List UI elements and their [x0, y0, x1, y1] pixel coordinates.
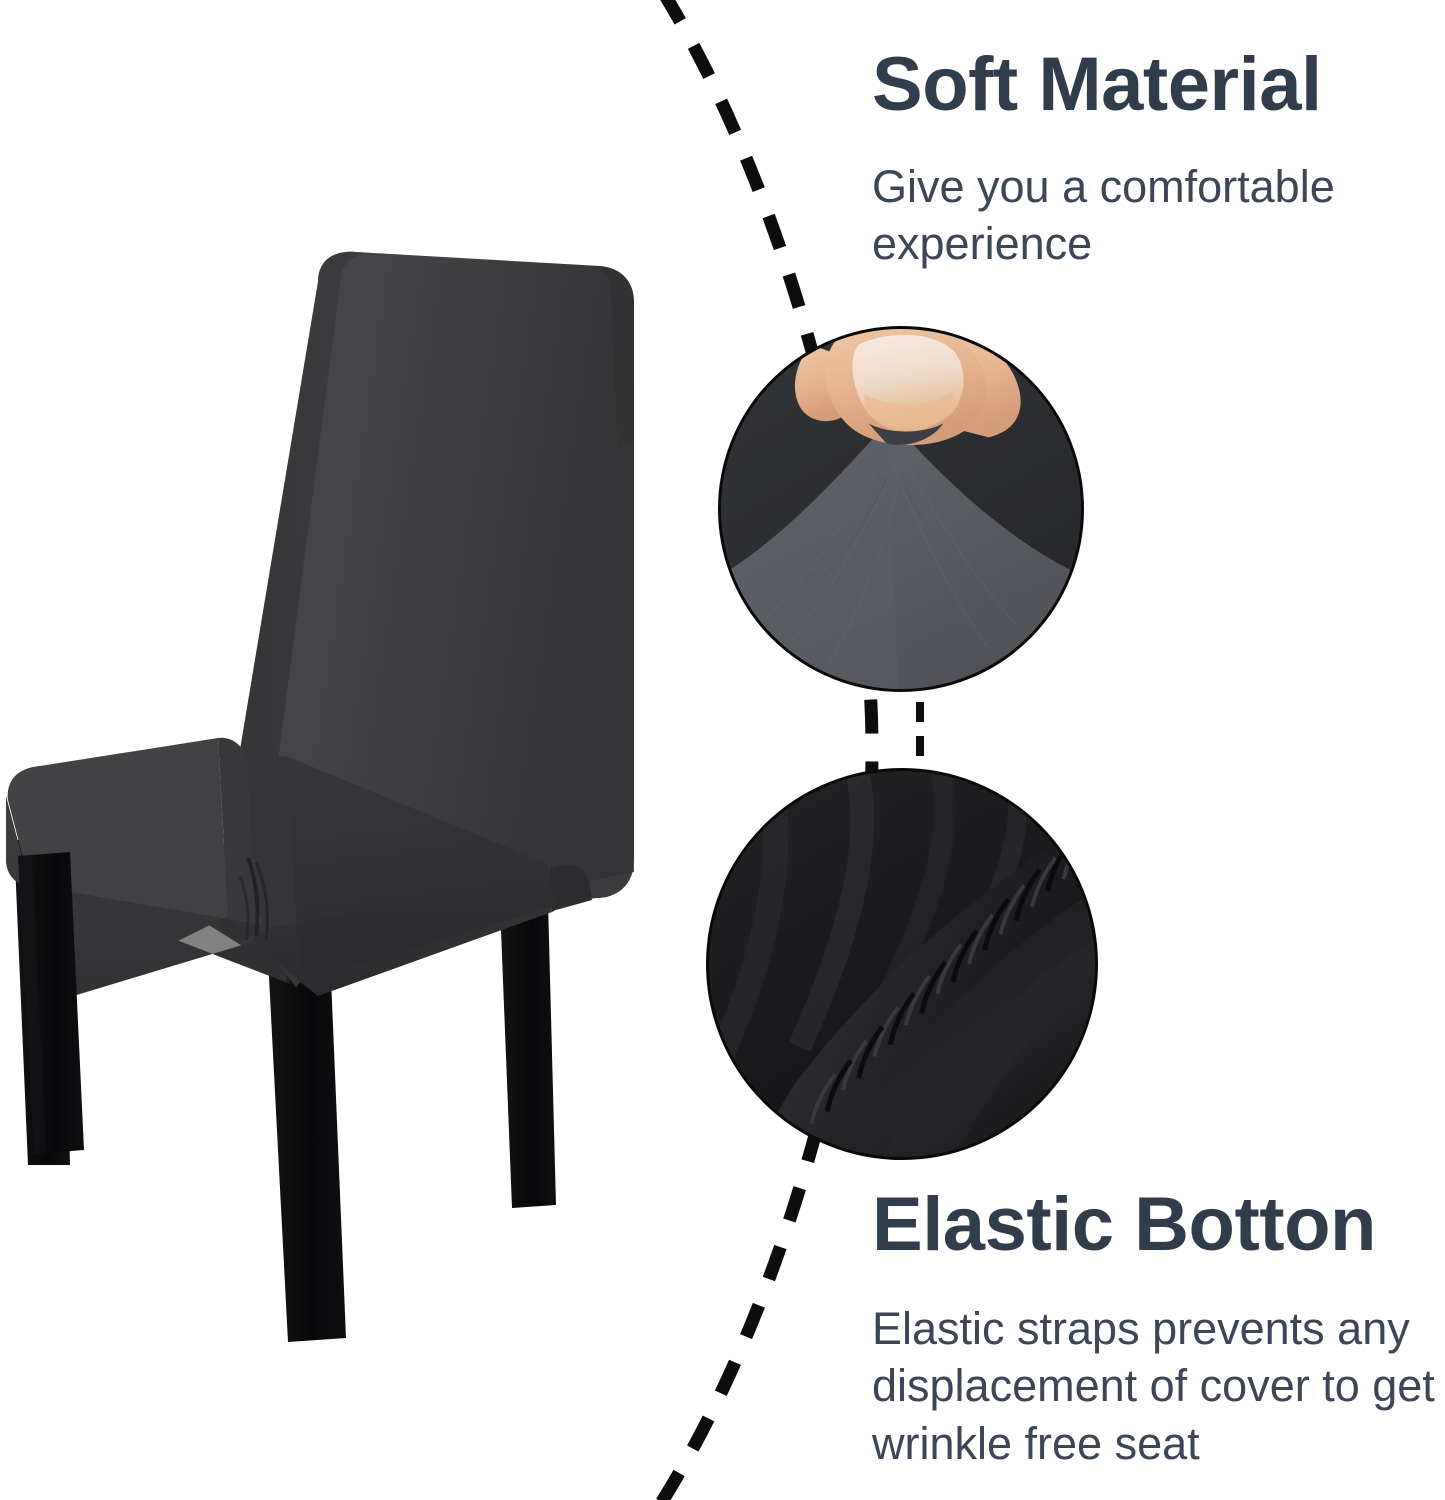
- feature-title-elastic-bottom: Elastic Botton: [872, 1186, 1442, 1264]
- detail-circle-elastic-bottom: [706, 768, 1098, 1160]
- feature-title-soft-material: Soft Material: [872, 46, 1432, 124]
- feature-description-elastic-bottom: Elastic straps prevents any displacement…: [872, 1300, 1437, 1473]
- infographic-canvas: Soft Material Give you a comfortable exp…: [0, 0, 1445, 1500]
- chair-leg-front-right: [268, 954, 346, 1342]
- dashed-connector: [916, 702, 924, 762]
- feature-description-soft-material: Give you a comfortable experience: [872, 158, 1392, 273]
- feature-block-elastic-bottom: Elastic Botton Elastic straps prevents a…: [872, 1186, 1442, 1472]
- chair-illustration: [0, 240, 640, 1360]
- chair-leg-rear-right: [500, 902, 556, 1208]
- detail-circle-soft-material: [718, 326, 1084, 692]
- feature-block-soft-material: Soft Material Give you a comfortable exp…: [872, 46, 1432, 273]
